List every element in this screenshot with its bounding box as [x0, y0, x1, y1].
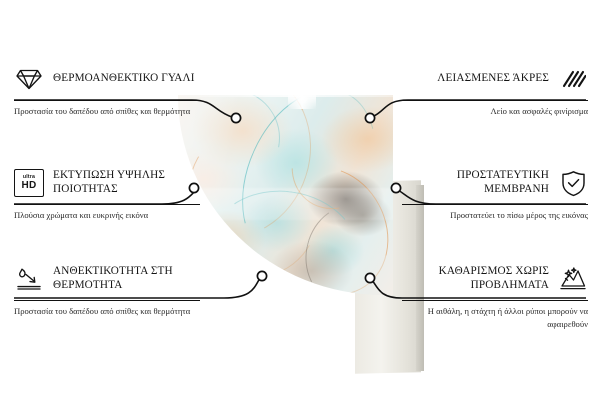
feature-description: Προστατεύει το πίσω μέρος της εικόνας: [402, 209, 588, 221]
feature-description: Προστασία του δαπέδου από σπίθες και θερ…: [14, 105, 200, 117]
product-image: [170, 85, 430, 325]
feature-heat-durability: ΑΝΘΕΚΤΙΚΟΤΗΤΑ ΣΤΗ ΘΕΡΜΟΤΗΤΑ Προστασία το…: [14, 262, 200, 318]
feature-heat-resistant-glass: ΘΕΡΜΟΑΝΘΕΚΤΙΚΟ ΓΥΑΛΙ Προστασία του δαπέδ…: [14, 62, 200, 118]
feature-description: Προστασία του δαπέδου από σπίθες και θερ…: [14, 305, 200, 317]
feature-divider: [402, 100, 588, 101]
flame-deflect-icon: [14, 264, 44, 294]
glass-top-edge: [178, 95, 393, 97]
product-glass-panel: [178, 95, 393, 295]
diamond-icon: [14, 64, 44, 94]
feature-title: ΛΕΙΑΣΜΕΝΕΣ ΆΚΡΕΣ: [437, 72, 549, 86]
feature-description: Η αιθάλη, η στάχτη ή άλλοι ρύποι μπορούν…: [402, 305, 588, 329]
feature-title: ΕΚΤΥΠΩΣΗ ΥΨΗΛΗΣ ΠΟΙΟΤΗΤΑΣ: [53, 169, 200, 196]
shield-check-icon: [558, 168, 588, 198]
feature-divider: [402, 300, 588, 301]
ultra-hd-icon: ultra HD: [14, 168, 44, 198]
ultra-hd-bottom-label: HD: [21, 181, 36, 191]
infographic-canvas: ΘΕΡΜΟΑΝΘΕΚΤΙΚΟ ΓΥΑΛΙ Προστασία του δαπέδ…: [0, 0, 600, 400]
feature-title: ΚΑΘΑΡΙΣΜΟΣ ΧΩΡΙΣ ΠΡΟΒΛΗΜΑΤΑ: [402, 265, 549, 292]
sparkle-wipe-icon: [558, 264, 588, 294]
feature-description: Πλούσια χρώματα και ευκρινής εικόνα: [14, 209, 200, 221]
feature-protective-membrane: ΠΡΟΣΤΑΤΕΥΤΙΚΗ ΜΕΜΒΡΑΝΗ Προστατεύει το πί…: [402, 166, 588, 222]
feature-polished-edges: ΛΕΙΑΣΜΕΝΕΣ ΆΚΡΕΣ Λείο και ασφαλές φινίρι…: [402, 62, 588, 118]
feature-description: Λείο και ασφαλές φινίρισμα: [402, 105, 588, 117]
feature-divider: [14, 100, 200, 101]
feature-easy-cleaning: ΚΑΘΑΡΙΣΜΟΣ ΧΩΡΙΣ ΠΡΟΒΛΗΜΑΤΑ Η αιθάλη, η …: [402, 262, 588, 330]
polished-edges-icon: [558, 64, 588, 94]
feature-divider: [14, 204, 200, 205]
feature-title: ΑΝΘΕΚΤΙΚΟΤΗΤΑ ΣΤΗ ΘΕΡΜΟΤΗΤΑ: [53, 265, 200, 292]
feature-title: ΠΡΟΣΤΑΤΕΥΤΙΚΗ ΜΕΜΒΡΑΝΗ: [402, 169, 549, 196]
feature-high-quality-print: ultra HD ΕΚΤΥΠΩΣΗ ΥΨΗΛΗΣ ΠΟΙΟΤΗΤΑΣ Πλούσ…: [14, 166, 200, 222]
feature-divider: [14, 300, 200, 301]
feature-divider: [402, 204, 588, 205]
feature-title: ΘΕΡΜΟΑΝΘΕΚΤΙΚΟ ΓΥΑΛΙ: [53, 72, 195, 86]
